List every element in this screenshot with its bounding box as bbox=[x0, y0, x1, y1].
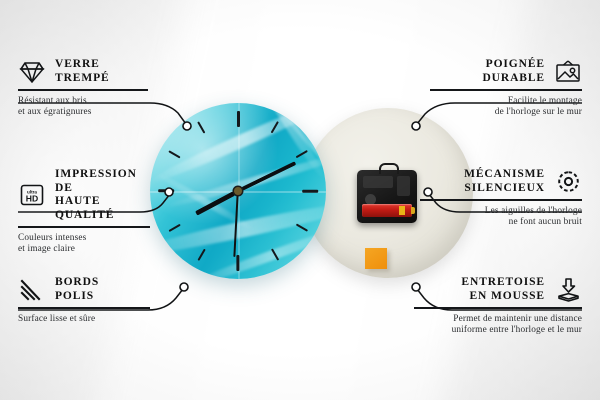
diagonal-stripes-icon bbox=[18, 277, 46, 303]
feature-title: ENTRETOISE EN MOUSSE bbox=[461, 276, 545, 303]
feature-header: ENTRETOISE EN MOUSSE bbox=[414, 276, 582, 303]
feature-desc-line-1: Couleurs intenses bbox=[18, 233, 150, 244]
divider bbox=[18, 226, 150, 228]
feature-desc-line-2: et aux égratignures bbox=[18, 107, 148, 118]
gear-icon bbox=[554, 169, 582, 195]
divider bbox=[414, 307, 582, 309]
feature-title: POIGNÉE DURABLE bbox=[482, 58, 545, 85]
feature-desc-line-1: Facilite le montage bbox=[430, 96, 582, 107]
feature-desc-line-2: de l'horloge sur le mur bbox=[430, 107, 582, 118]
feature-desc-line-1: Les aiguilles de l'horloge bbox=[420, 206, 582, 217]
feature-verre-trempe: VERRE TREMPÉ Résistant aux bris et aux é… bbox=[18, 58, 148, 118]
feature-title: IMPRESSION DE HAUTE QUALITÉ bbox=[55, 168, 150, 222]
feature-header: ultraHD IMPRESSION DE HAUTE QUALITÉ bbox=[18, 168, 150, 222]
feature-bords-polis: BORDS POLIS Surface lisse et sûre bbox=[18, 276, 150, 325]
feature-header: VERRE TREMPÉ bbox=[18, 58, 148, 85]
divider bbox=[18, 307, 150, 309]
picture-hanger-icon bbox=[554, 59, 582, 85]
feature-header: MÉCANISME SILENCIEUX bbox=[420, 168, 582, 195]
feature-impression-haute-qualite: ultraHD IMPRESSION DE HAUTE QUALITÉ Coul… bbox=[18, 168, 150, 255]
feature-desc-line-2: uniforme entre l'horloge et le mur bbox=[414, 325, 582, 336]
divider bbox=[420, 199, 582, 201]
divider bbox=[18, 89, 148, 91]
feature-desc-line-1: Permet de maintenir une distance bbox=[414, 314, 582, 325]
infographic-canvas: VERRE TREMPÉ Résistant aux bris et aux é… bbox=[0, 0, 600, 400]
ultra-hd-badge-icon: ultraHD bbox=[18, 182, 46, 208]
feature-desc-line-1: Résistant aux bris bbox=[18, 96, 148, 107]
feature-title: BORDS POLIS bbox=[55, 276, 99, 303]
feature-desc-line-2: et image claire bbox=[18, 244, 150, 255]
svg-text:HD: HD bbox=[26, 194, 38, 204]
feature-header: POIGNÉE DURABLE bbox=[430, 58, 582, 85]
divider bbox=[430, 89, 582, 91]
feature-poignee-durable: POIGNÉE DURABLE Facilite le montage de l… bbox=[430, 58, 582, 118]
feature-entretoise-en-mousse: ENTRETOISE EN MOUSSE Permet de maintenir… bbox=[414, 276, 582, 336]
feature-desc-line-2: ne font aucun bruit bbox=[420, 217, 582, 228]
feature-title: VERRE TREMPÉ bbox=[55, 58, 110, 85]
feature-desc-line-1: Surface lisse et sûre bbox=[18, 314, 150, 325]
feature-header: BORDS POLIS bbox=[18, 276, 150, 303]
feature-title: MÉCANISME SILENCIEUX bbox=[464, 168, 545, 195]
foam-spacer-icon bbox=[554, 277, 582, 303]
feature-mecanisme-silencieux: MÉCANISME SILENCIEUX Les aiguilles de l'… bbox=[420, 168, 582, 228]
diamond-icon bbox=[18, 59, 46, 85]
